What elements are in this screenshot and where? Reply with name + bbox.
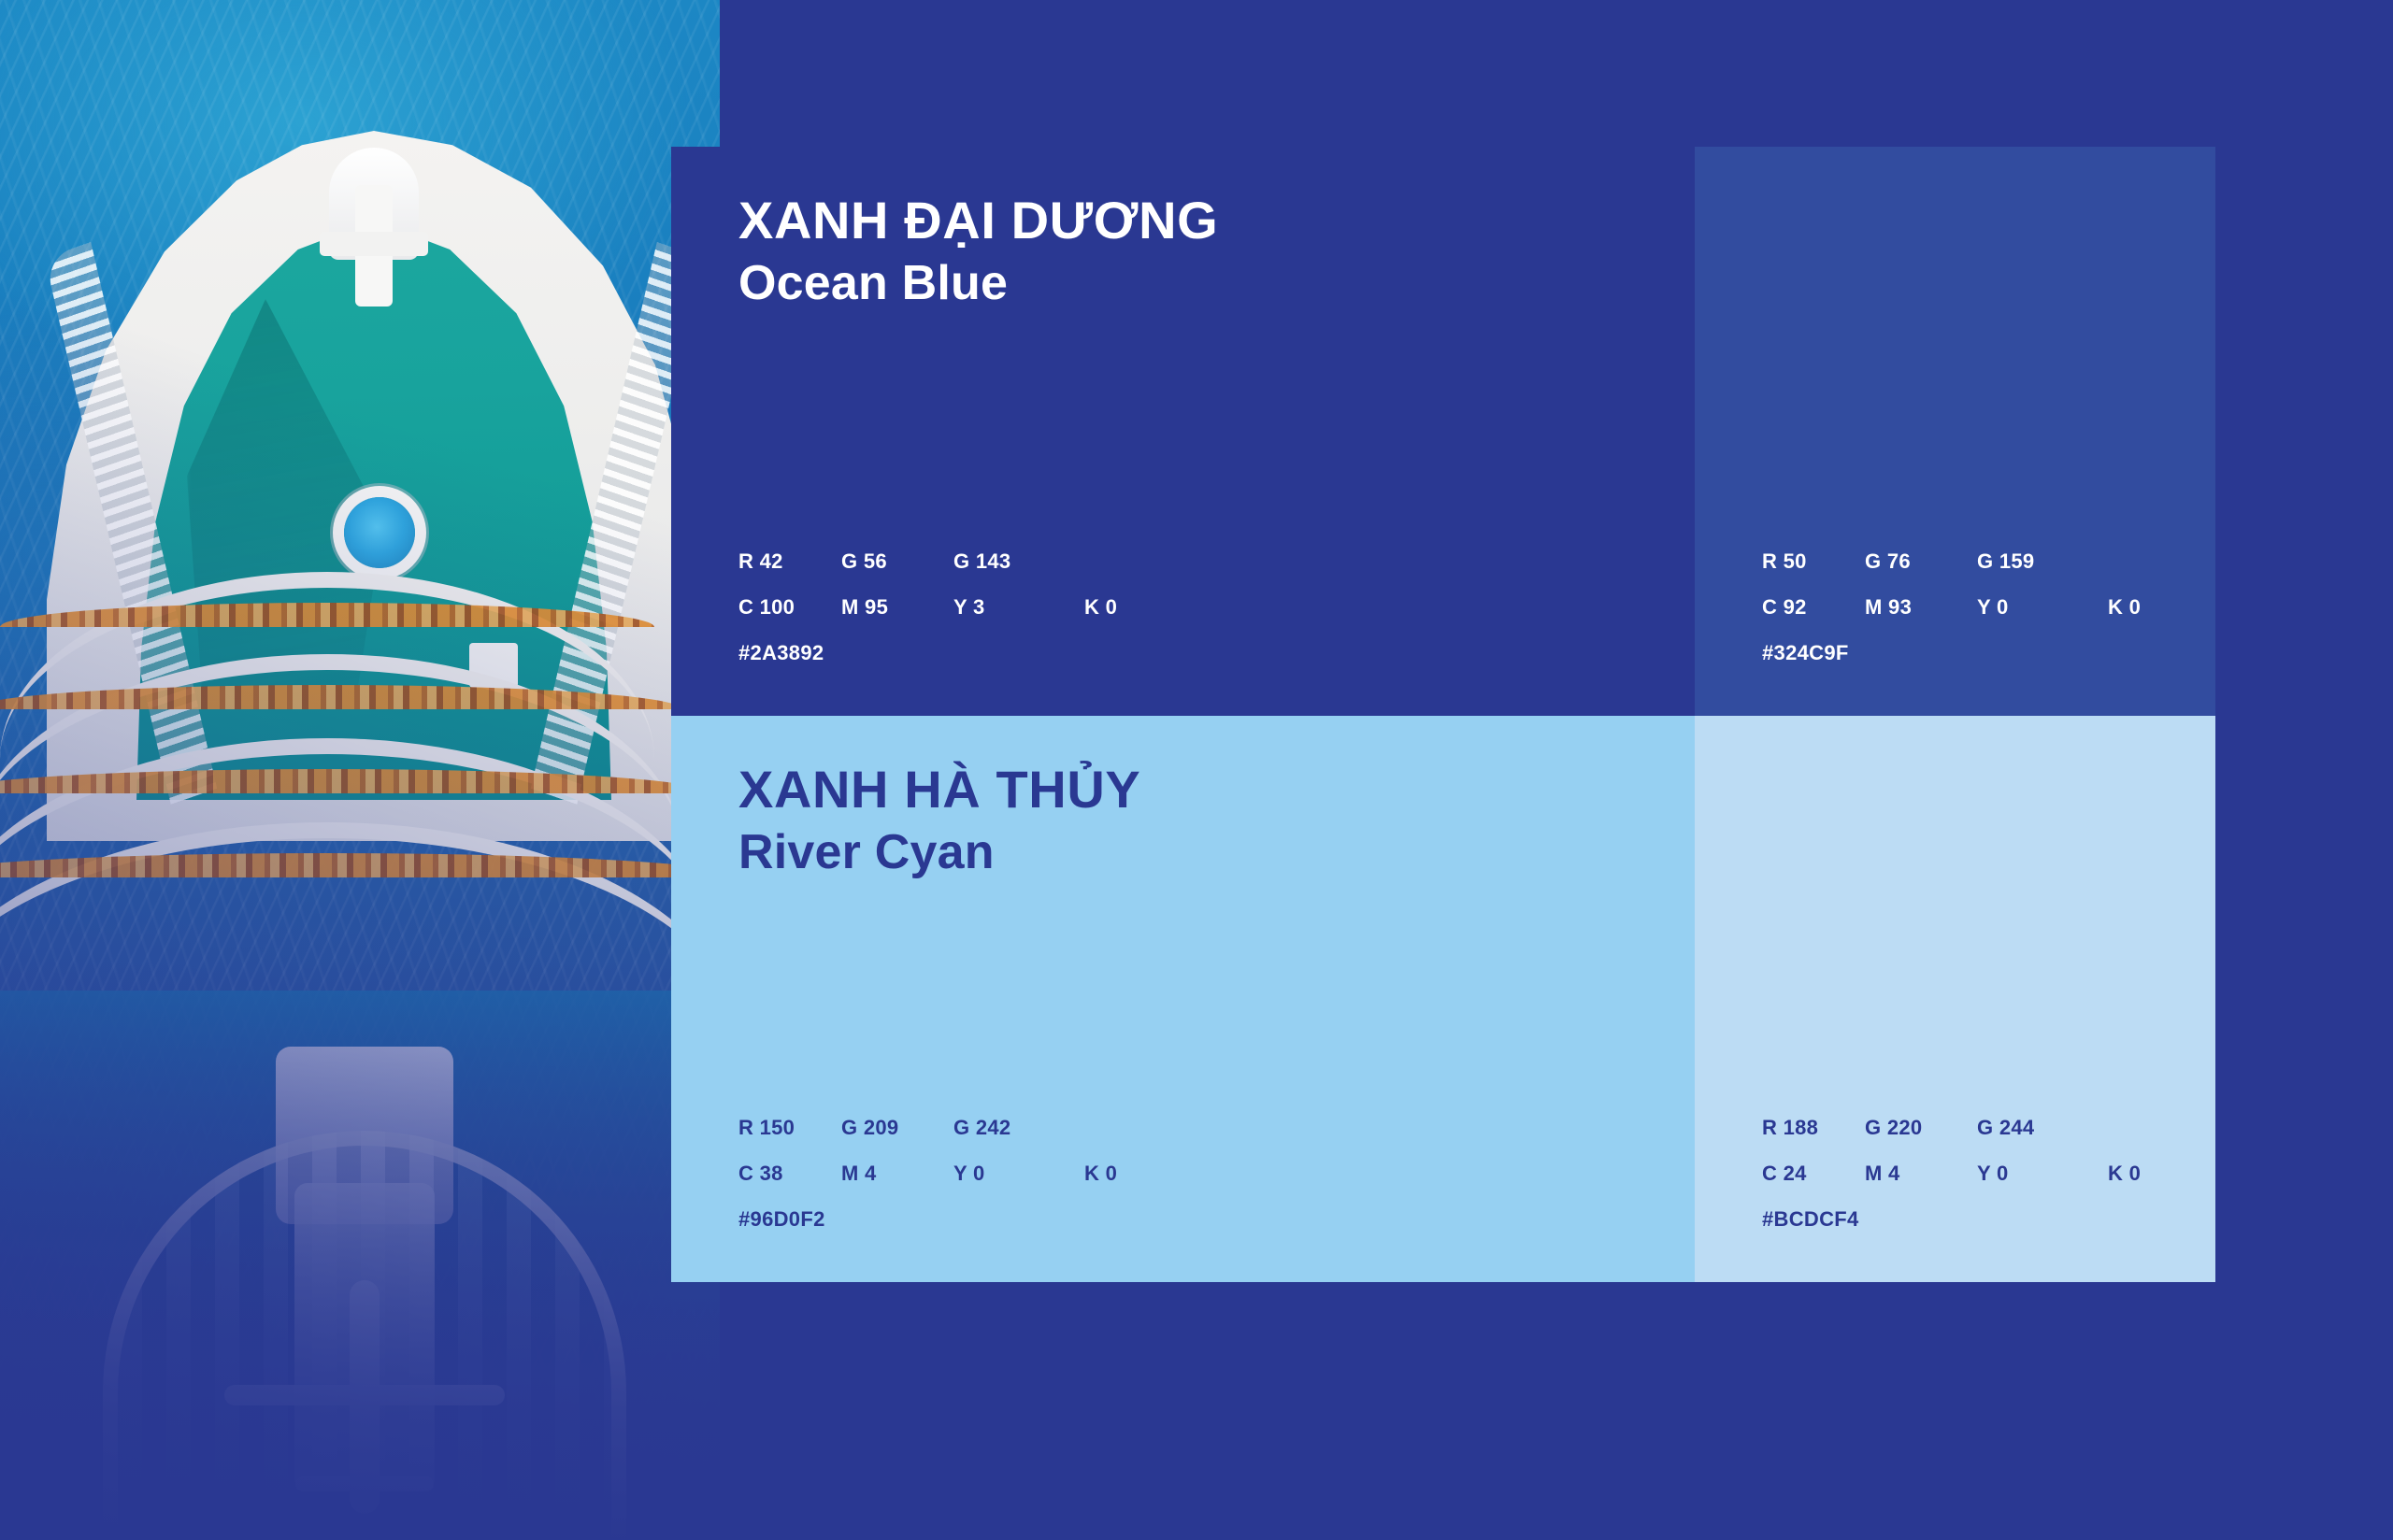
swatch-river-cyan[interactable]: XANH HÀ THỦY River Cyan R 150G 209G 242 … [671, 716, 1695, 1282]
rgb-g-value: G 209 [841, 1116, 953, 1140]
swatch-name-vi: XANH ĐẠI DƯƠNG [738, 192, 1218, 250]
cmyk-c-value: C 100 [738, 595, 841, 620]
swatch-specs-river-cyan: R 150G 209G 242 C 38M 4Y 0K 0 #96D0F2 [738, 1116, 1598, 1232]
rgb-row: R 188G 220G 244 [1762, 1116, 2393, 1140]
swatch-title-river-cyan: XANH HÀ THỦY River Cyan [738, 761, 1140, 881]
rgb-r-value: R 150 [738, 1116, 841, 1140]
cmyk-m-value: M 4 [1865, 1162, 1977, 1186]
photo-bottom-fade [0, 961, 720, 1540]
swatch-specs-river-cyan-light: R 188G 220G 244 C 24M 4Y 0K 0 #BCDCF4 [1762, 1116, 2393, 1232]
cmyk-m-value: M 4 [841, 1162, 953, 1186]
cmyk-c-value: C 92 [1762, 595, 1865, 620]
swatch-ocean-blue-light[interactable]: R 50G 76G 159 C 92M 93Y 0K 0 #324C9F [1695, 147, 2215, 716]
rgb-b-value: G 242 [953, 1116, 1084, 1140]
color-palette-page: XANH ĐẠI DƯƠNG Ocean Blue R 42G 56G 143 … [0, 0, 2393, 1540]
cmyk-m-value: M 93 [1865, 595, 1977, 620]
cmyk-row: C 38M 4Y 0K 0 [738, 1162, 1598, 1186]
hex-row: #BCDCF4 [1762, 1207, 2393, 1232]
hex-value[interactable]: #BCDCF4 [1762, 1207, 1859, 1231]
rgb-r-value: R 50 [1762, 549, 1865, 574]
cmyk-c-value: C 24 [1762, 1162, 1865, 1186]
hex-row: #96D0F2 [738, 1207, 1598, 1232]
cmyk-row: C 92M 93Y 0K 0 [1762, 595, 2393, 620]
rgb-row: R 150G 209G 242 [738, 1116, 1598, 1140]
rgb-r-value: R 42 [738, 549, 841, 574]
cmyk-k-value: K 0 [2108, 595, 2220, 620]
swatch-name-vi: XANH HÀ THỦY [738, 761, 1140, 820]
cmyk-k-value: K 0 [2108, 1162, 2220, 1186]
rgb-g-value: G 56 [841, 549, 953, 574]
rgb-b-value: G 244 [1977, 1116, 2108, 1140]
hex-value[interactable]: #2A3892 [738, 641, 824, 664]
cmyk-c-value: C 38 [738, 1162, 841, 1186]
cmyk-k-value: K 0 [1084, 1162, 1196, 1186]
hex-value[interactable]: #324C9F [1762, 641, 1849, 664]
swatch-specs-ocean-blue: R 42G 56G 143 C 100M 95Y 3K 0 #2A3892 [738, 549, 1598, 665]
cmyk-m-value: M 95 [841, 595, 953, 620]
cmyk-k-value: K 0 [1084, 595, 1196, 620]
cmyk-y-value: Y 0 [1977, 595, 2108, 620]
rgb-row: R 50G 76G 159 [1762, 549, 2393, 574]
swatch-name-en: River Cyan [738, 823, 1140, 881]
rgb-r-value: R 188 [1762, 1116, 1865, 1140]
hex-row: #324C9F [1762, 641, 2393, 665]
rgb-b-value: G 159 [1977, 549, 2108, 574]
hex-row: #2A3892 [738, 641, 1598, 665]
cmyk-row: C 100M 95Y 3K 0 [738, 595, 1598, 620]
swatch-ocean-blue[interactable]: XANH ĐẠI DƯƠNG Ocean Blue R 42G 56G 143 … [671, 147, 1695, 716]
cmyk-y-value: Y 0 [1977, 1162, 2108, 1186]
rgb-g-value: G 220 [1865, 1116, 1977, 1140]
cmyk-row: C 24M 4Y 0K 0 [1762, 1162, 2393, 1186]
swatch-river-cyan-light[interactable]: R 188G 220G 244 C 24M 4Y 0K 0 #BCDCF4 [1695, 716, 2215, 1282]
background-photo-cruise-ship [0, 0, 720, 1540]
cmyk-y-value: Y 0 [953, 1162, 1084, 1186]
rgb-row: R 42G 56G 143 [738, 549, 1598, 574]
cmyk-y-value: Y 3 [953, 595, 1084, 620]
hex-value[interactable]: #96D0F2 [738, 1207, 825, 1231]
palette-grid: XANH ĐẠI DƯƠNG Ocean Blue R 42G 56G 143 … [671, 147, 2215, 1282]
swatch-title-ocean-blue: XANH ĐẠI DƯƠNG Ocean Blue [738, 192, 1218, 312]
swatch-name-en: Ocean Blue [738, 254, 1218, 312]
rgb-g-value: G 76 [1865, 549, 1977, 574]
swatch-specs-ocean-blue-light: R 50G 76G 159 C 92M 93Y 0K 0 #324C9F [1762, 549, 2393, 665]
rgb-b-value: G 143 [953, 549, 1084, 574]
